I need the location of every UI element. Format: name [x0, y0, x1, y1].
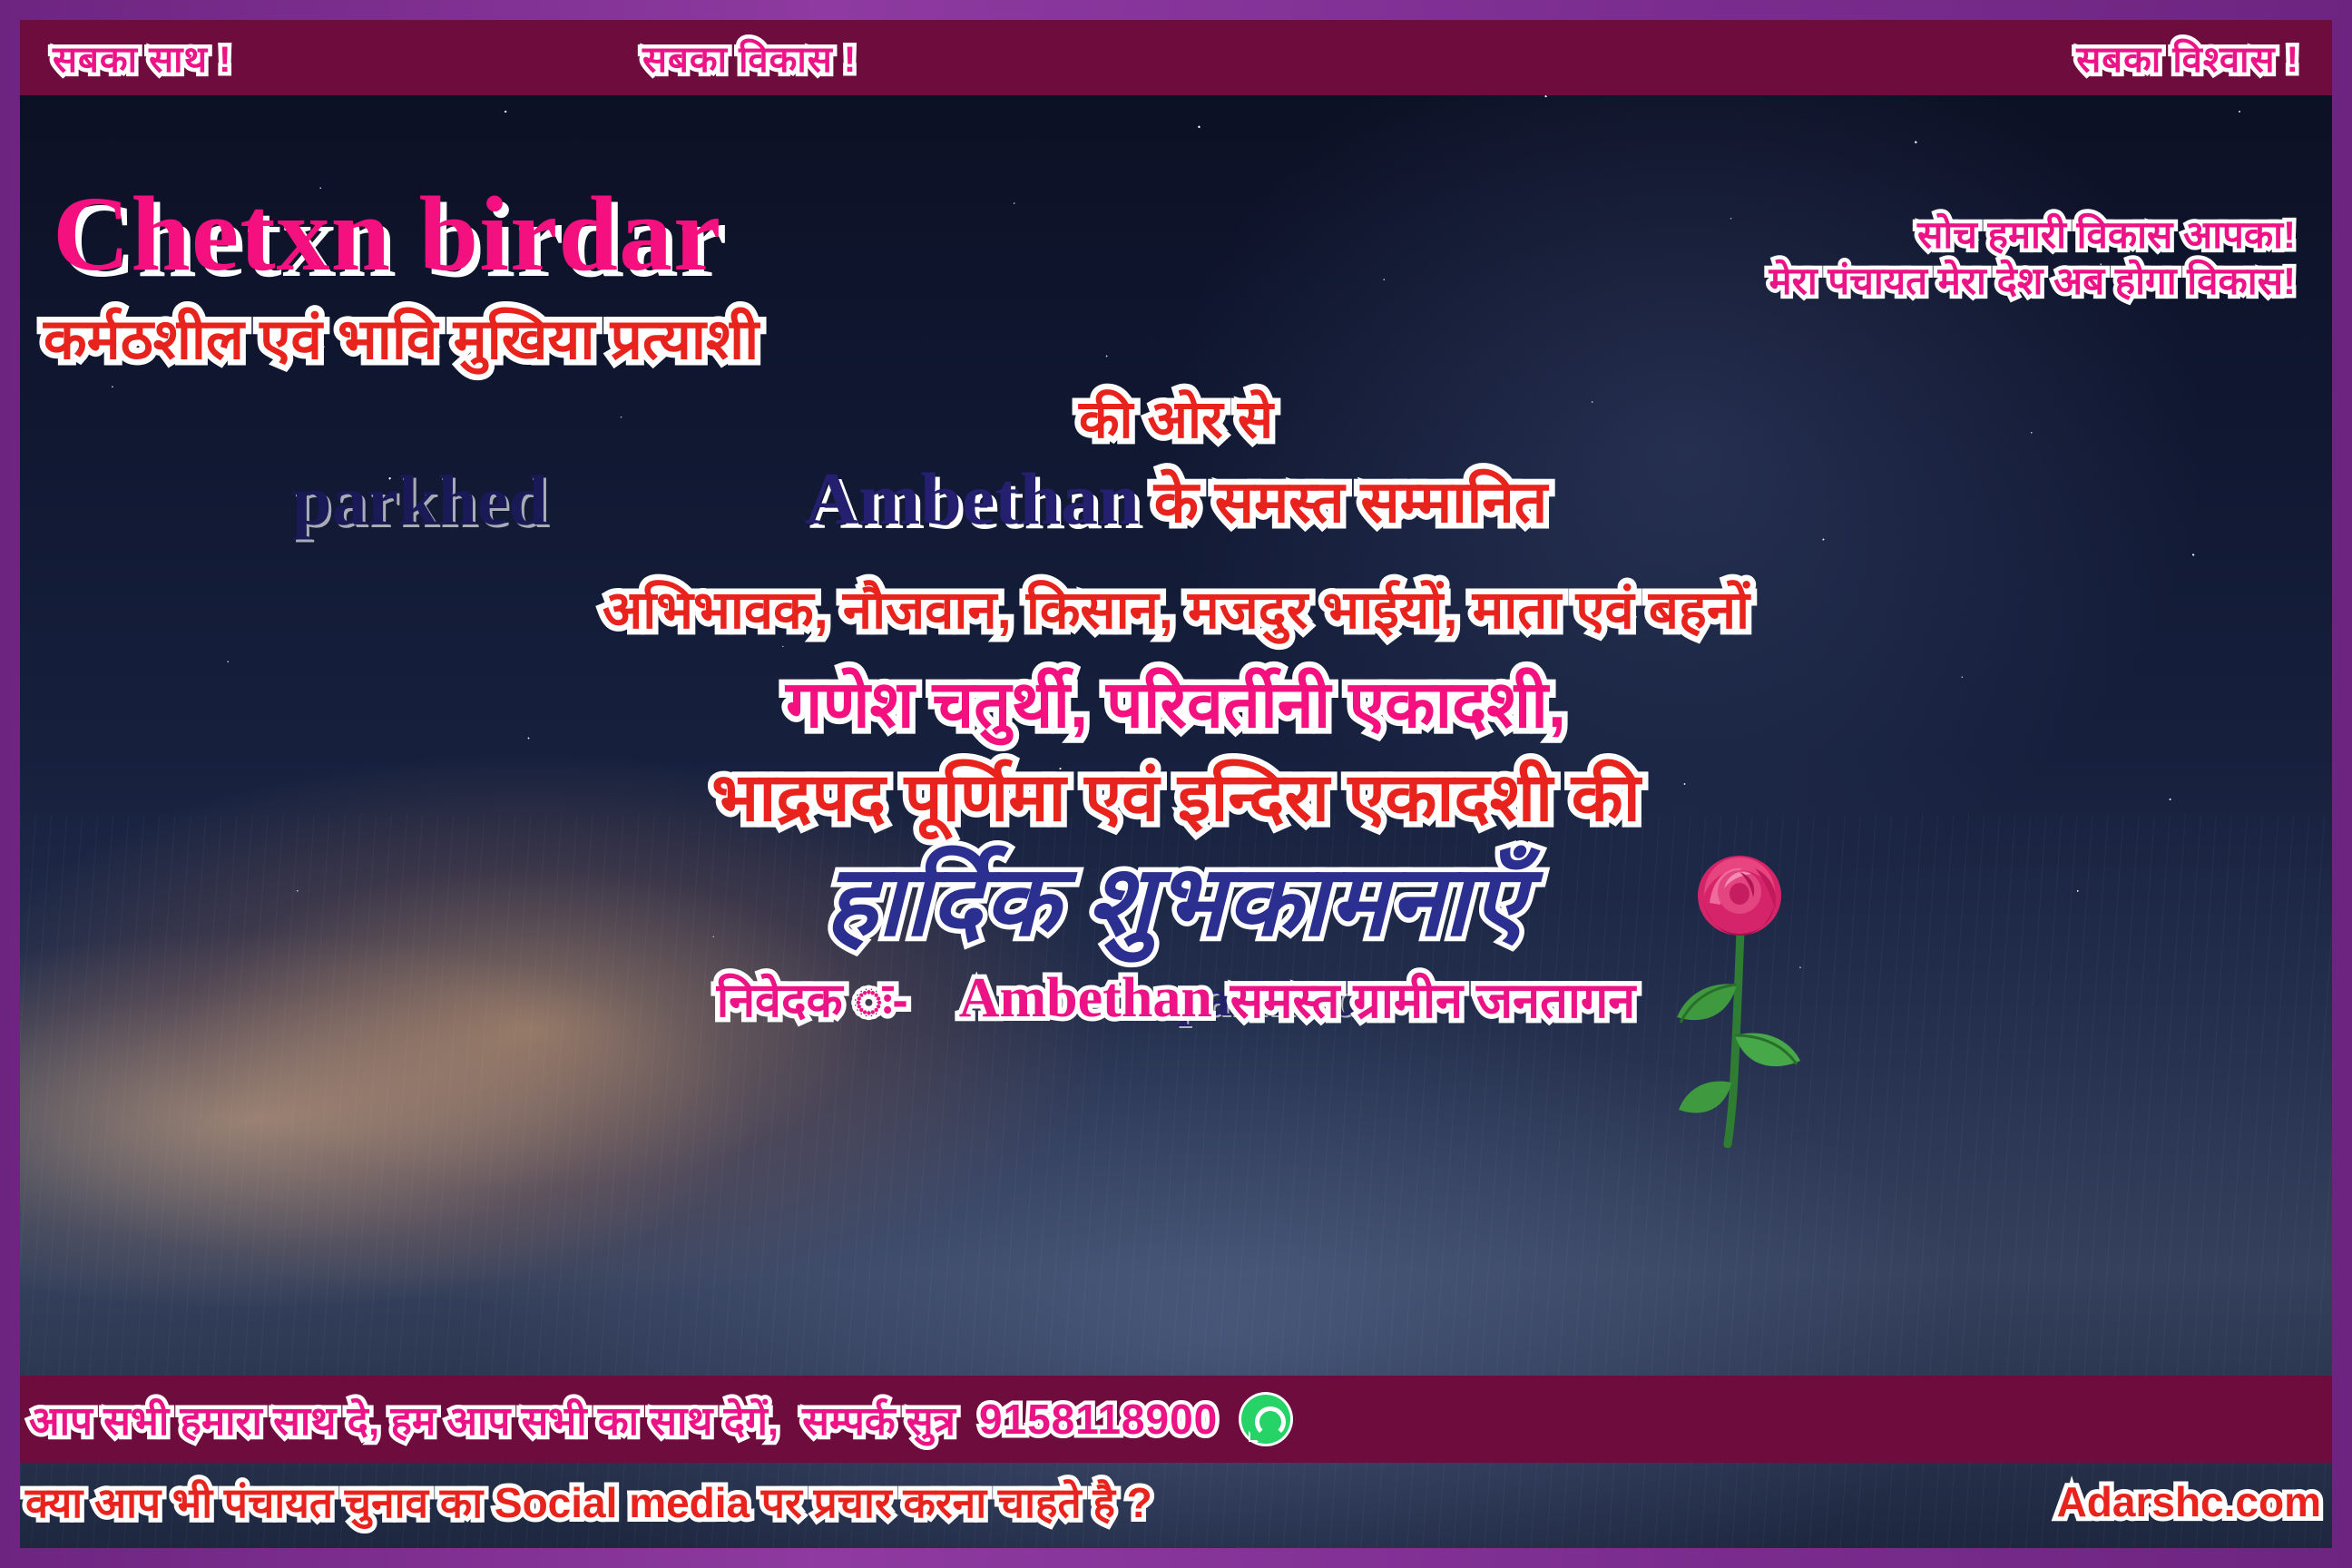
- wish-headline: हार्दिक शुभकामनाएँ: [20, 830, 2332, 964]
- appeal-text: आप सभी हमारा साथ दे, हम आप सभी का साथ दे…: [29, 1392, 779, 1446]
- festival-line-2: भाद्रपद पूर्णिमा एवं इन्दिरा एकादशी की: [20, 749, 2332, 840]
- village-name: Ambethan: [805, 456, 1140, 542]
- secondary-slogans: सोच हमारी विकास आपका! मेरा पंचायत मेरा द…: [1769, 211, 2296, 304]
- whatsapp-icon[interactable]: [1241, 1395, 1290, 1444]
- village-greeting-suffix: के समस्त सम्मानित: [1154, 460, 1547, 539]
- slogan-mera-panchayat: मेरा पंचायत मेरा देश अब होगा विकास!: [1769, 258, 2296, 304]
- slogan-sabka-saath: सबका साथ !: [53, 33, 231, 83]
- from-label: की ओर से: [20, 381, 2332, 453]
- submitter-village-name: Ambethan: [959, 967, 1212, 1029]
- village-name-overlay: parkhed: [292, 460, 548, 542]
- slogan-sabka-vishwas: सबका विश्वास !: [2076, 33, 2299, 83]
- poster-body: सोच हमारी विकास आपका! मेरा पंचायत मेरा द…: [20, 95, 2332, 1376]
- promo-website[interactable]: Adarshc.com: [2057, 1477, 2321, 1526]
- submitter-tail: समस्त ग्रामीन जनतागन: [1230, 965, 1635, 1032]
- festival-line-1: गणेश चतुर्थी, परिवर्तीनी एकादशी,: [20, 658, 2332, 747]
- rose-icon: [1653, 848, 1826, 1148]
- slogan-sabka-vikas: सबका विकास !: [642, 33, 857, 83]
- top-slogan-bar: सबका साथ ! सबका विकास ! सबका विश्वास !: [20, 20, 2332, 95]
- village-greeting-line: Ambethan parkhed के समस्त सम्मानित: [20, 458, 2332, 540]
- submitter-line: निवेदक ः- Ambethan parkhed समस्त ग्रामीन…: [20, 962, 2332, 1034]
- slogan-soch-hamari: सोच हमारी विकास आपका!: [1769, 211, 2296, 258]
- audience-line: अभिभावक, नौजवान, किसान, मजदुर भाईयों, मा…: [20, 572, 2332, 643]
- promo-question: क्या आप भी पंचायत चुनाव का Social media …: [25, 1474, 1152, 1530]
- submitter-label: निवेदक ः-: [717, 966, 908, 1031]
- contact-label: सम्पर्क सुत्र: [802, 1392, 955, 1446]
- phone-number[interactable]: 9158118900: [979, 1395, 1218, 1444]
- submitter-name-group: Ambethan parkhed: [959, 966, 1212, 1031]
- promo-row: क्या आप भी पंचायत चुनाव का Social media …: [25, 1466, 2321, 1537]
- election-greeting-poster: सबका साथ ! सबका विकास ! सबका विश्वास ! स…: [0, 0, 2352, 1568]
- candidate-name: Chetxn birdar: [53, 172, 721, 296]
- contact-row: आप सभी हमारा साथ दे, हम आप सभी का साथ दे…: [29, 1383, 2316, 1455]
- candidate-designation: कर्मठशील एवं भावि मुखिया प्रत्याशी: [44, 299, 759, 376]
